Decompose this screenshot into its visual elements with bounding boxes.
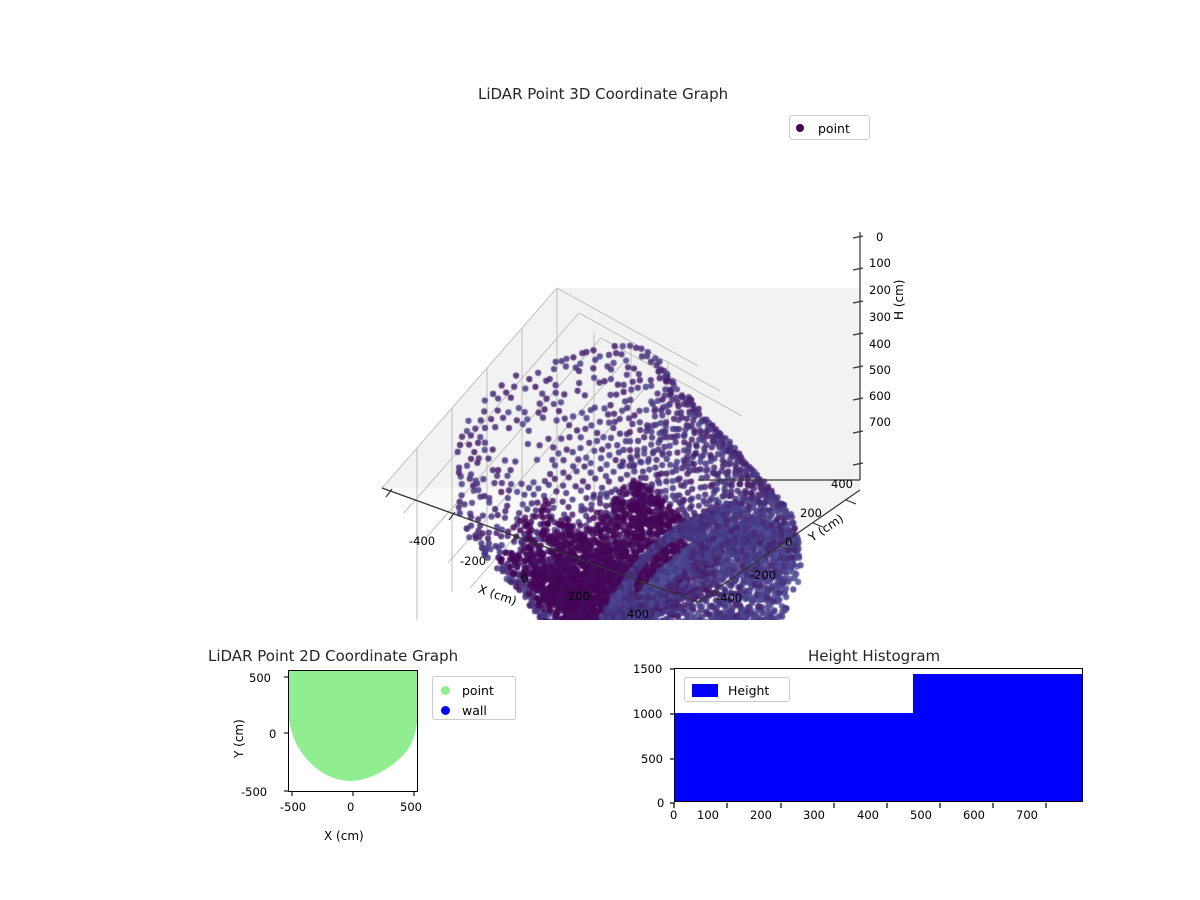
- lidar-point-cloud: [300, 140, 920, 620]
- legend-3d[interactable]: point: [789, 115, 870, 140]
- xtick-200: 200: [568, 589, 590, 603]
- ytickh-500: 500: [641, 752, 663, 766]
- legend-2d[interactable]: point wall: [432, 676, 516, 720]
- ztick-100: 100: [869, 256, 891, 270]
- axes-3d[interactable]: [300, 140, 920, 620]
- legend-histogram[interactable]: Height: [684, 677, 790, 702]
- figure-canvas: LiDAR Point 3D Coordinate Graph point: [0, 0, 1200, 900]
- xtick-400: 400: [627, 607, 649, 621]
- height-swatch-icon: [692, 684, 718, 697]
- xtick--400: -400: [409, 534, 435, 548]
- legend-label-height: Height: [728, 683, 769, 698]
- xtick-0: 0: [521, 572, 528, 586]
- legend2d-label-wall: wall: [462, 703, 487, 718]
- ytickh-1500: 1500: [633, 662, 662, 676]
- wall-swatch-icon: [441, 706, 450, 715]
- legend2d-label-point: point: [462, 683, 494, 698]
- ytick2d--500: -500: [241, 785, 267, 799]
- ytick2d-500: 500: [249, 671, 271, 685]
- legend-label-point: point: [818, 121, 850, 136]
- ytick--400: -400: [716, 591, 742, 605]
- ytick--200: -200: [750, 568, 776, 582]
- ytick-0: 0: [785, 535, 792, 549]
- point-marker-icon: [796, 124, 804, 132]
- ztick-500: 500: [869, 363, 891, 377]
- ztick-200: 200: [869, 283, 891, 297]
- point-swatch-icon: [441, 686, 450, 695]
- page-title: LiDAR Point 3D Coordinate Graph: [478, 85, 728, 103]
- yaxis2d-label: Y (cm): [232, 719, 246, 758]
- axes-2d-ticks: [270, 660, 440, 820]
- ytick-200: 200: [800, 506, 822, 520]
- ztick-300: 300: [869, 310, 891, 324]
- xtick--200: -200: [460, 554, 486, 568]
- ytickh-1000: 1000: [633, 707, 662, 721]
- ztick-0: 0: [876, 230, 883, 244]
- ztick-700: 700: [869, 415, 891, 429]
- ytick-400: 400: [831, 477, 853, 491]
- ztick-400: 400: [869, 337, 891, 351]
- ztick-600: 600: [869, 389, 891, 403]
- xaxis2d-label: X (cm): [324, 829, 364, 843]
- zaxis-label: H (cm): [892, 280, 906, 321]
